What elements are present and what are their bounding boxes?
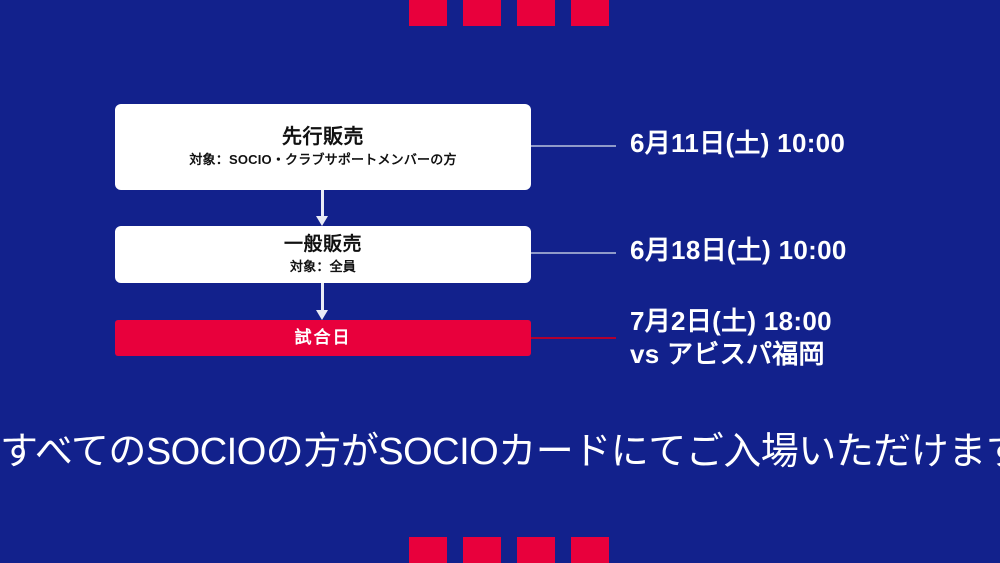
flow-step-subtitle: 対象：SOCIO・クラブサポートメンバーの方 [189,152,456,168]
flow-step-presale: 先行販売 対象：SOCIO・クラブサポートメンバーの方 [115,104,531,190]
flow-step-title: 先行販売 [282,126,364,149]
flow-step-title: 一般販売 [284,234,362,256]
arrow-down-icon [321,283,324,311]
sales-flow-diagram: 先行販売 対象：SOCIO・クラブサポートメンバーの方 一般販売 対象：全員 試… [0,0,1000,563]
date-matchday: 7月2日(土) 18:00 vs アビスパ福岡 [630,305,832,371]
flow-step-matchday: 試合日 [115,320,531,356]
date-line: 6月18日(土) 10:00 [630,234,847,267]
ticket-schedule-poster: 先行販売 対象：SOCIO・クラブサポートメンバーの方 一般販売 対象：全員 試… [0,0,1000,563]
connector-line-general-sale [531,252,616,254]
date-general-sale: 6月18日(土) 10:00 [630,234,847,267]
date-line: 6月11日(土) 10:00 [630,127,845,160]
connector-line-presale [531,145,616,147]
connector-line-matchday [531,337,616,339]
date-presale: 6月11日(土) 10:00 [630,127,845,160]
page-headline: すべてのSOCIOの方がSOCIOカードにてご入場いただけます。 [0,430,1000,476]
arrow-down-icon [321,190,324,217]
opponent-line: vs アビスパ福岡 [630,338,832,371]
date-line: 7月2日(土) 18:00 [630,305,832,338]
flow-step-general-sale: 一般販売 対象：全員 [115,226,531,283]
flow-step-subtitle: 対象：全員 [290,259,356,275]
flow-step-title: 試合日 [295,328,352,348]
